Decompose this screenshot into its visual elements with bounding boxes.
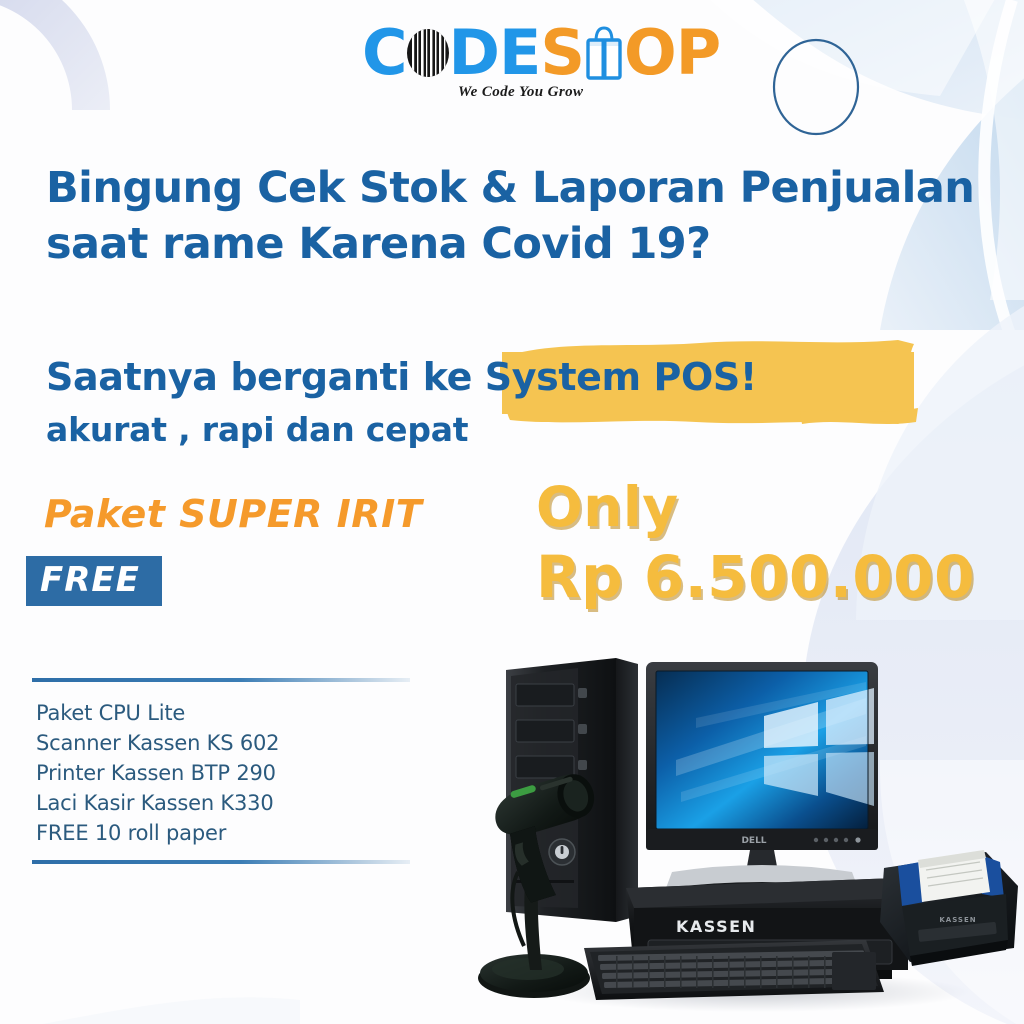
svg-text:KASSEN: KASSEN <box>676 917 756 936</box>
logo-tagline: We Code You Grow <box>458 84 583 101</box>
feature-list: Paket CPU Lite Scanner Kassen KS 602 Pri… <box>32 678 410 864</box>
subheadline-line-1: Saatnya berganti ke System POS! <box>46 352 946 402</box>
barcode-circle-icon <box>405 28 451 78</box>
logo-wordmark: C DE S <box>362 22 662 84</box>
shopping-bag-icon <box>583 25 625 81</box>
brand-logo: C DE S <box>362 22 662 108</box>
promo-poster: C DE S <box>0 0 1024 1024</box>
subheadline: Saatnya berganti ke System POS! akurat ,… <box>46 352 946 454</box>
logo-letters-de: DE <box>449 24 541 82</box>
headline-line-1: Bingung Cek Stok & Laporan Penjualan <box>46 160 996 216</box>
corner-ring-decoration <box>0 0 110 110</box>
logo-letter-s: S <box>540 24 584 82</box>
subheadline-line-2: akurat , rapi dan cepat <box>46 406 946 454</box>
package-name: Paket SUPER IRIT <box>44 492 422 536</box>
svg-text:DELL: DELL <box>741 836 766 846</box>
headline-line-2: saat rame Karena Covid 19? <box>46 216 996 272</box>
list-item: Paket CPU Lite <box>36 698 410 728</box>
logo-letters-op: OP <box>624 24 720 82</box>
lcd-monitor: DELL <box>646 662 878 896</box>
list-item: Scanner Kassen KS 602 <box>36 728 410 758</box>
thermal-printer: KASSEN <box>880 850 1018 966</box>
svg-text:KASSEN: KASSEN <box>939 916 976 924</box>
list-item: Printer Kassen BTP 290 <box>36 758 410 788</box>
product-photo: DELL KASSEN <box>466 640 1024 1024</box>
price-block: Only Rp 6.500.000 <box>536 478 966 610</box>
free-badge: FREE <box>26 556 162 606</box>
pos-bundle-illustration: DELL KASSEN <box>466 640 1024 1024</box>
price-amount: Rp 6.500.000 <box>536 544 966 610</box>
feature-items: Paket CPU Lite Scanner Kassen KS 602 Pri… <box>32 682 410 860</box>
price-prefix: Only <box>536 478 966 536</box>
keyboard <box>584 940 884 1000</box>
page-title: Bingung Cek Stok & Laporan Penjualan saa… <box>46 160 996 272</box>
list-item: FREE 10 roll paper <box>36 818 410 848</box>
list-item: Laci Kasir Kassen K330 <box>36 788 410 818</box>
divider-bottom <box>32 860 410 864</box>
free-badge-label: FREE <box>40 561 140 599</box>
logo-letter-c: C <box>362 24 407 82</box>
